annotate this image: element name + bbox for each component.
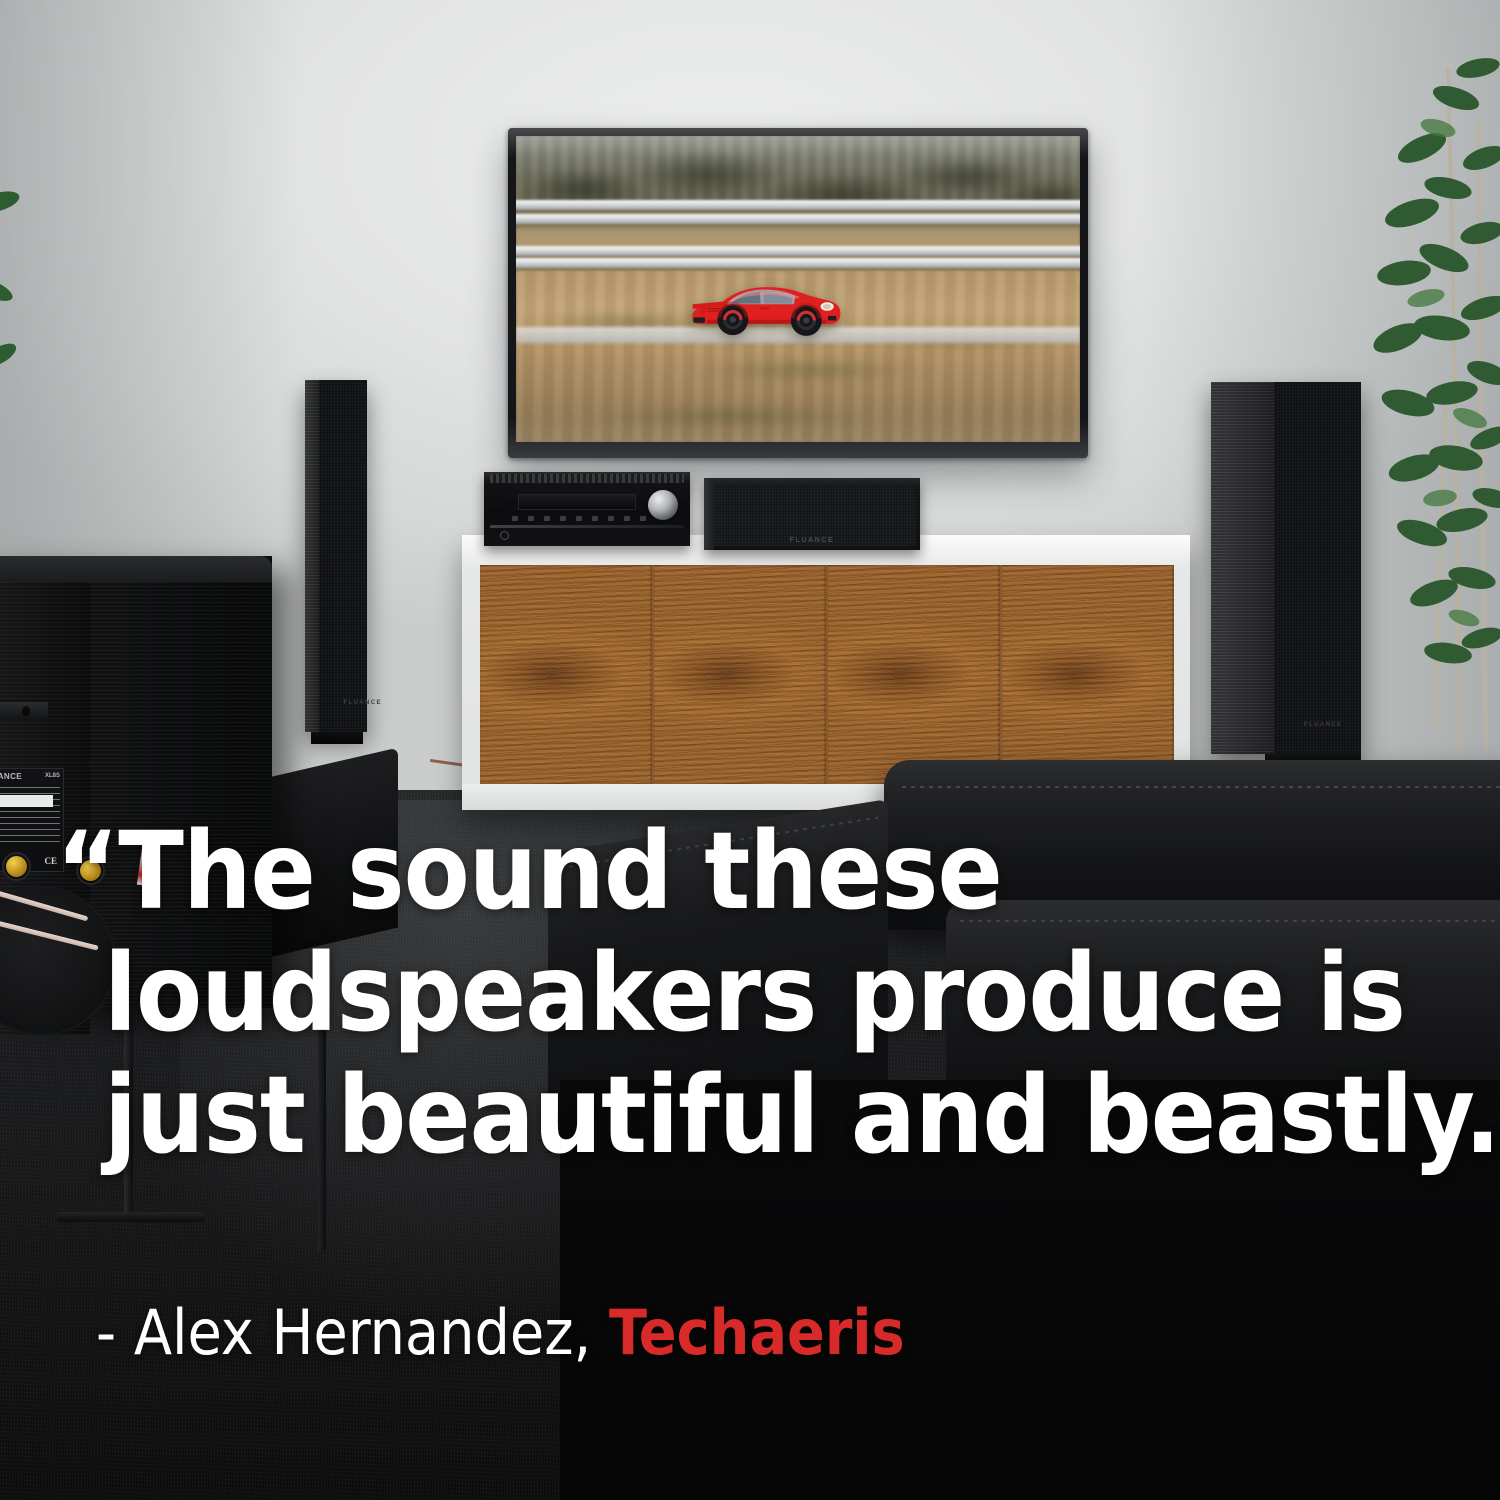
center-speaker-logo: FLUANCE [790,537,835,544]
indoor-ficus-plant [1352,28,1500,748]
receiver-vent-grille [490,474,684,483]
attribution-publication: Techaeris [609,1296,905,1369]
console-door[interactable] [828,565,1000,784]
porsche-911-gt3-car [663,271,866,344]
receiver-trim-bar [490,525,684,528]
tv-scene-guardrail-2 [516,214,1080,224]
speaker-model-text: XL8S [45,773,60,779]
tower-left-logo: FLUANCE [343,700,381,706]
speaker-brand-text: FLUANCE [0,772,22,781]
floorstanding-tower-speaker-left[interactable]: FLUANCE [305,380,367,732]
tv-scene-guardrail-1 [516,200,1080,210]
console-door-row [480,565,1174,784]
quote-line-2: loudspeakers produce is [56,934,1376,1056]
tower-right-cabinet-side [1211,382,1274,754]
tower-left-grille [319,380,367,732]
speaker-serial-sticker [0,795,53,807]
wall-mounted-television[interactable] [508,128,1088,458]
wall-mount-bracket [0,702,48,720]
console-door[interactable] [654,565,826,784]
center-channel-speaker[interactable]: FLUANCE [704,478,920,550]
quote-card-image: FLUANCE FLUANCE FLUANCE [0,0,1500,1500]
attribution-dash: - [96,1296,116,1369]
power-button-icon[interactable] [500,531,509,540]
speaker-stand-foot [56,1212,206,1222]
quote-attribution: - Alex Hernandez, Techaeris [96,1296,905,1369]
receiver-button-row[interactable] [512,516,648,521]
av-receiver[interactable] [484,472,690,546]
tv-scene-guardrail-4 [516,258,1080,268]
tv-scene-guardrail-3 [516,246,1080,256]
console-door[interactable] [480,565,652,784]
tv-screen [516,136,1080,442]
console-door[interactable] [1002,565,1174,784]
attribution-separator: , [574,1296,592,1369]
pull-quote: “The sound these loudspeakers produce is… [56,812,1376,1178]
tower-right-logo: FLUANCE [1304,722,1342,728]
quote-line-1: “The sound these [56,812,1376,934]
center-speaker-side-panel [704,478,714,550]
floorstanding-tower-speaker-right[interactable]: FLUANCE [1211,382,1361,754]
tower-left-cabinet-side [305,380,319,732]
quote-line-3: just beautiful and beastly.” [56,1056,1376,1178]
receiver-display [518,494,636,510]
attribution-author: Alex Hernandez [134,1296,574,1369]
binding-post-left[interactable] [6,856,27,877]
tower-right-grille [1274,382,1361,754]
tower-left-base [311,732,363,744]
plant-leaves-left-edge [0,150,60,450]
receiver-volume-knob[interactable] [648,490,678,520]
